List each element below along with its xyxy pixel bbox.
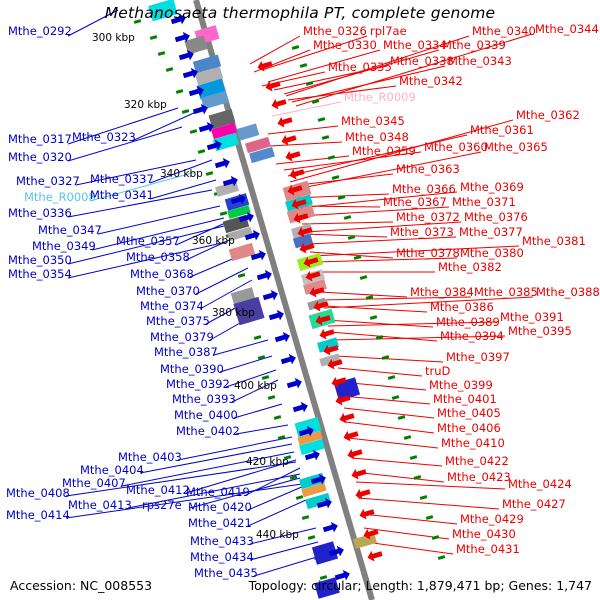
gene-arrow-forward[interactable]	[276, 114, 293, 129]
gene-arrow-reverse[interactable]	[292, 400, 309, 415]
gene-label[interactable]: Mthe_0348	[345, 131, 409, 143]
gene-label[interactable]: Mthe_0363	[396, 163, 460, 175]
tick-mark	[150, 35, 158, 40]
gene-label[interactable]: truD	[425, 365, 450, 377]
cog-block[interactable]	[237, 123, 260, 140]
cog-block[interactable]	[314, 577, 340, 599]
gene-arrow-forward[interactable]	[284, 148, 301, 163]
tick-mark	[332, 175, 340, 180]
gene-arrow-forward[interactable]	[358, 506, 375, 521]
gene-label[interactable]: Mthe_0358	[126, 251, 190, 263]
gene-label[interactable]: Mthe_R0009	[344, 91, 416, 103]
gene-label[interactable]: Mthe_0391	[500, 311, 564, 323]
gene-label[interactable]: Mthe_0389	[436, 316, 500, 328]
gene-label[interactable]: rps27e	[142, 499, 182, 511]
gene-label[interactable]: Mthe_0402	[176, 425, 240, 437]
gene-arrow-reverse[interactable]	[268, 308, 285, 323]
leader-line	[150, 180, 216, 199]
tick-mark	[438, 555, 446, 560]
tick-mark	[274, 415, 282, 420]
gene-arrow-reverse[interactable]	[334, 568, 351, 583]
leader-line	[248, 500, 306, 526]
gene-label[interactable]: Mthe_0371	[452, 196, 516, 208]
gene-label[interactable]: Mthe_0401	[433, 393, 497, 405]
gene-label[interactable]: Mthe_0423	[447, 471, 511, 483]
tick-mark	[166, 67, 174, 72]
gene-label[interactable]: Mthe_0338	[390, 55, 454, 67]
gene-label[interactable]: Mthe_0408	[6, 487, 70, 499]
gene-arrow-reverse[interactable]	[262, 288, 279, 303]
tick-mark	[322, 135, 330, 140]
gene-label[interactable]: Mthe_0292	[8, 25, 72, 37]
gene-label[interactable]: Mthe_0386	[430, 301, 494, 313]
genome-map-viewport[interactable]: Methanosaeta thermophila PT, complete ge…	[0, 0, 600, 600]
leader-line	[268, 126, 338, 134]
leader-line	[348, 438, 438, 448]
leader-line	[358, 498, 499, 509]
gene-label[interactable]: Mthe_0421	[188, 517, 252, 529]
tick-mark	[398, 415, 406, 420]
tick-mark	[296, 495, 304, 500]
leader-line	[196, 268, 248, 294]
leader-line	[270, 142, 342, 146]
leader-line	[362, 514, 457, 524]
tick-mark	[268, 395, 276, 400]
tick-mark	[426, 515, 434, 520]
gene-label[interactable]: Mthe_0419	[186, 486, 250, 498]
tick-mark	[302, 515, 310, 520]
gene-label[interactable]: Mthe_0382	[438, 261, 502, 273]
leader-line	[254, 556, 320, 576]
gene-label[interactable]: Mthe_0433	[190, 535, 254, 547]
gene-label[interactable]: Mthe_0365	[484, 141, 548, 153]
gene-arrow-reverse[interactable]	[322, 520, 339, 535]
gene-label[interactable]: Mthe_0372	[396, 211, 460, 223]
gene-label[interactable]: Mthe_0330	[313, 39, 377, 51]
gene-arrow-reverse[interactable]	[214, 156, 231, 171]
gene-label[interactable]: Mthe_0434	[190, 551, 254, 563]
gene-label[interactable]: Mthe_0336	[8, 207, 72, 219]
gene-label[interactable]: Mthe_0360	[424, 141, 488, 153]
gene-arrow-forward[interactable]	[256, 58, 273, 73]
gene-label[interactable]: Mthe_0431	[456, 543, 520, 555]
leader-line	[344, 408, 434, 418]
leader-line	[320, 292, 407, 297]
gene-label[interactable]: Mthe_0429	[460, 513, 524, 525]
axis-tick-label: 400 kbp	[234, 380, 277, 392]
tick-mark	[420, 495, 428, 500]
gene-label[interactable]: Mthe_0337	[90, 173, 154, 185]
gene-label[interactable]: Mthe_0427	[502, 498, 566, 510]
leader-line	[250, 542, 318, 560]
gene-arrow-forward[interactable]	[270, 96, 287, 111]
gene-label[interactable]: Mthe_0420	[188, 501, 252, 513]
gene-label[interactable]: Mthe_0341	[90, 189, 154, 201]
gene-label[interactable]: Mthe_0435	[194, 567, 258, 579]
gene-label[interactable]: Mthe_0405	[437, 407, 501, 419]
tick-mark	[198, 149, 206, 154]
gene-arrow-reverse[interactable]	[280, 352, 297, 367]
gene-label[interactable]: Mthe_0387	[154, 346, 218, 358]
axis-tick-label: 420 kbp	[246, 456, 289, 468]
tick-mark	[320, 575, 328, 580]
gene-arrow-reverse[interactable]	[286, 376, 303, 391]
gene-label[interactable]: Mthe_0392	[166, 378, 230, 390]
gene-label[interactable]: Mthe_0373	[390, 226, 454, 238]
leader-line	[324, 306, 427, 312]
tick-mark	[344, 215, 352, 220]
tick-mark	[318, 117, 326, 122]
gene-label[interactable]: Mthe_0354	[8, 268, 72, 280]
tick-mark	[300, 63, 308, 68]
gene-label[interactable]: Mthe_0334	[383, 39, 447, 51]
tick-mark	[206, 171, 214, 176]
axis-tick-label: 360 kbp	[192, 235, 235, 247]
gene-label[interactable]: Mthe_0384	[410, 286, 474, 298]
leader-line	[346, 422, 434, 433]
gene-label[interactable]: Mthe_0357	[116, 235, 180, 247]
gene-label[interactable]: Mthe_0343	[448, 55, 512, 67]
gene-arrow-reverse[interactable]	[274, 330, 291, 345]
gene-arrow-reverse[interactable]	[256, 268, 273, 283]
gene-label[interactable]: Mthe_0379	[150, 331, 214, 343]
tick-mark	[182, 109, 190, 114]
gene-label[interactable]: Mthe_0414	[6, 509, 70, 521]
gene-label[interactable]: Mthe_0397	[446, 351, 510, 363]
gene-label[interactable]: Mthe_0422	[445, 455, 509, 467]
tick-mark	[392, 395, 400, 400]
axis-tick-label: 440 kbp	[256, 529, 299, 541]
tick-mark	[308, 535, 316, 540]
gene-label[interactable]: Mthe_0345	[341, 115, 405, 127]
gene-label[interactable]: Mthe_0327	[16, 175, 80, 187]
gene-label[interactable]: Mthe_0375	[146, 315, 210, 327]
gene-label[interactable]: Mthe_0399	[429, 379, 493, 391]
gene-label[interactable]: Mthe_0326	[303, 25, 367, 37]
leader-line	[338, 368, 422, 376]
leader-line	[214, 340, 268, 355]
tick-mark	[190, 129, 198, 134]
tick-mark	[388, 375, 396, 380]
gene-label[interactable]: Mthe_0376	[464, 211, 528, 223]
gene-label[interactable]: Mthe_0378	[396, 247, 460, 259]
gene-label[interactable]: Mthe_0410	[441, 437, 505, 449]
leader-line	[304, 234, 387, 237]
tick-mark	[370, 315, 378, 320]
gene-label[interactable]: Mthe_0400	[174, 409, 238, 421]
tick-mark	[238, 273, 246, 278]
tick-mark	[306, 81, 314, 86]
gene-label[interactable]: Mthe_0406	[437, 422, 501, 434]
gene-label[interactable]: Mthe_0404	[80, 464, 144, 476]
page-title: Methanosaeta thermophila PT, complete ge…	[0, 4, 600, 22]
gene-label[interactable]: Mthe_0323	[72, 131, 136, 143]
gene-label[interactable]: Mthe_0385	[474, 286, 538, 298]
gene-label[interactable]: Mthe_0381	[522, 235, 586, 247]
tick-mark	[432, 535, 440, 540]
axis-tick-label: 300 kbp	[92, 32, 135, 44]
gene-label[interactable]: Mthe_0430	[452, 528, 516, 540]
gene-label[interactable]: Mthe_0412	[126, 484, 190, 496]
gene-label[interactable]: Mthe_0344	[535, 23, 599, 35]
tick-mark	[158, 51, 166, 56]
leader-line	[302, 222, 393, 224]
gene-arrow-forward[interactable]	[342, 428, 359, 443]
gene-label[interactable]: Mthe_0394	[440, 330, 504, 342]
leader-line	[354, 472, 444, 482]
axis-tick-label: 380 kbp	[212, 307, 255, 319]
tick-mark	[360, 275, 368, 280]
gene-label[interactable]: Mthe_0349	[32, 240, 96, 252]
gene-label[interactable]: Mthe_0339	[442, 39, 506, 51]
gene-label[interactable]: Mthe_0403	[118, 451, 182, 463]
gene-label[interactable]: Mthe_0424	[508, 478, 572, 490]
gene-label[interactable]: rpl7ae	[370, 25, 407, 37]
gene-label[interactable]: Mthe_0395	[508, 325, 572, 337]
leader-line	[98, 206, 220, 234]
gene-label[interactable]: Mthe_0380	[460, 247, 524, 259]
gene-label[interactable]: Mthe_0320	[8, 151, 72, 163]
leader-line	[234, 404, 282, 418]
gene-label[interactable]: Mthe_0368	[130, 268, 194, 280]
gene-label[interactable]: Mthe_0317	[8, 133, 72, 145]
leader-line	[352, 458, 442, 466]
gene-label[interactable]: Mthe_0377	[459, 226, 523, 238]
gene-label[interactable]: Mthe_0335	[328, 61, 392, 73]
gene-label[interactable]: Mthe_R0008	[24, 191, 96, 203]
tick-mark	[292, 45, 300, 50]
tick-mark	[410, 455, 418, 460]
gene-label[interactable]: Mthe_0347	[38, 224, 102, 236]
tick-mark	[404, 435, 412, 440]
gene-label[interactable]: Mthe_0390	[160, 363, 224, 375]
leader-line	[236, 425, 288, 434]
gene-label[interactable]: Mthe_0369	[460, 181, 524, 193]
axis-tick-label: 320 kbp	[124, 99, 167, 111]
gene-arrow-forward[interactable]	[366, 548, 383, 563]
gene-label[interactable]: Mthe_0393	[172, 393, 236, 405]
gene-label[interactable]: Mthe_0340	[472, 25, 536, 37]
gene-arrow-forward[interactable]	[350, 466, 367, 481]
leader-line	[132, 112, 196, 141]
gene-label[interactable]: Mthe_0361	[470, 124, 534, 136]
gene-label[interactable]: Mthe_0367	[383, 196, 447, 208]
gene-label[interactable]: Mthe_0388	[536, 286, 600, 298]
gene-label[interactable]: Mthe_0370	[136, 285, 200, 297]
gene-label[interactable]: Mthe_0362	[516, 109, 580, 121]
gene-label[interactable]: Mthe_0413	[68, 499, 132, 511]
tick-mark	[176, 89, 184, 94]
gene-label[interactable]: Mthe_0359	[352, 145, 416, 157]
leader-line	[336, 356, 443, 362]
leader-line	[342, 396, 430, 404]
leader-line	[220, 356, 272, 372]
gene-label[interactable]: Mthe_0350	[8, 254, 72, 266]
axis-tick-label: 340 kbp	[160, 168, 203, 180]
gene-label[interactable]: Mthe_0366	[392, 183, 456, 195]
tick-mark	[328, 155, 336, 160]
tick-mark	[254, 335, 262, 340]
gene-label[interactable]: Mthe_0407	[62, 477, 126, 489]
gene-label[interactable]: Mthe_0342	[399, 75, 463, 87]
tick-mark	[220, 211, 228, 216]
gene-label[interactable]: Mthe_0374	[140, 300, 204, 312]
